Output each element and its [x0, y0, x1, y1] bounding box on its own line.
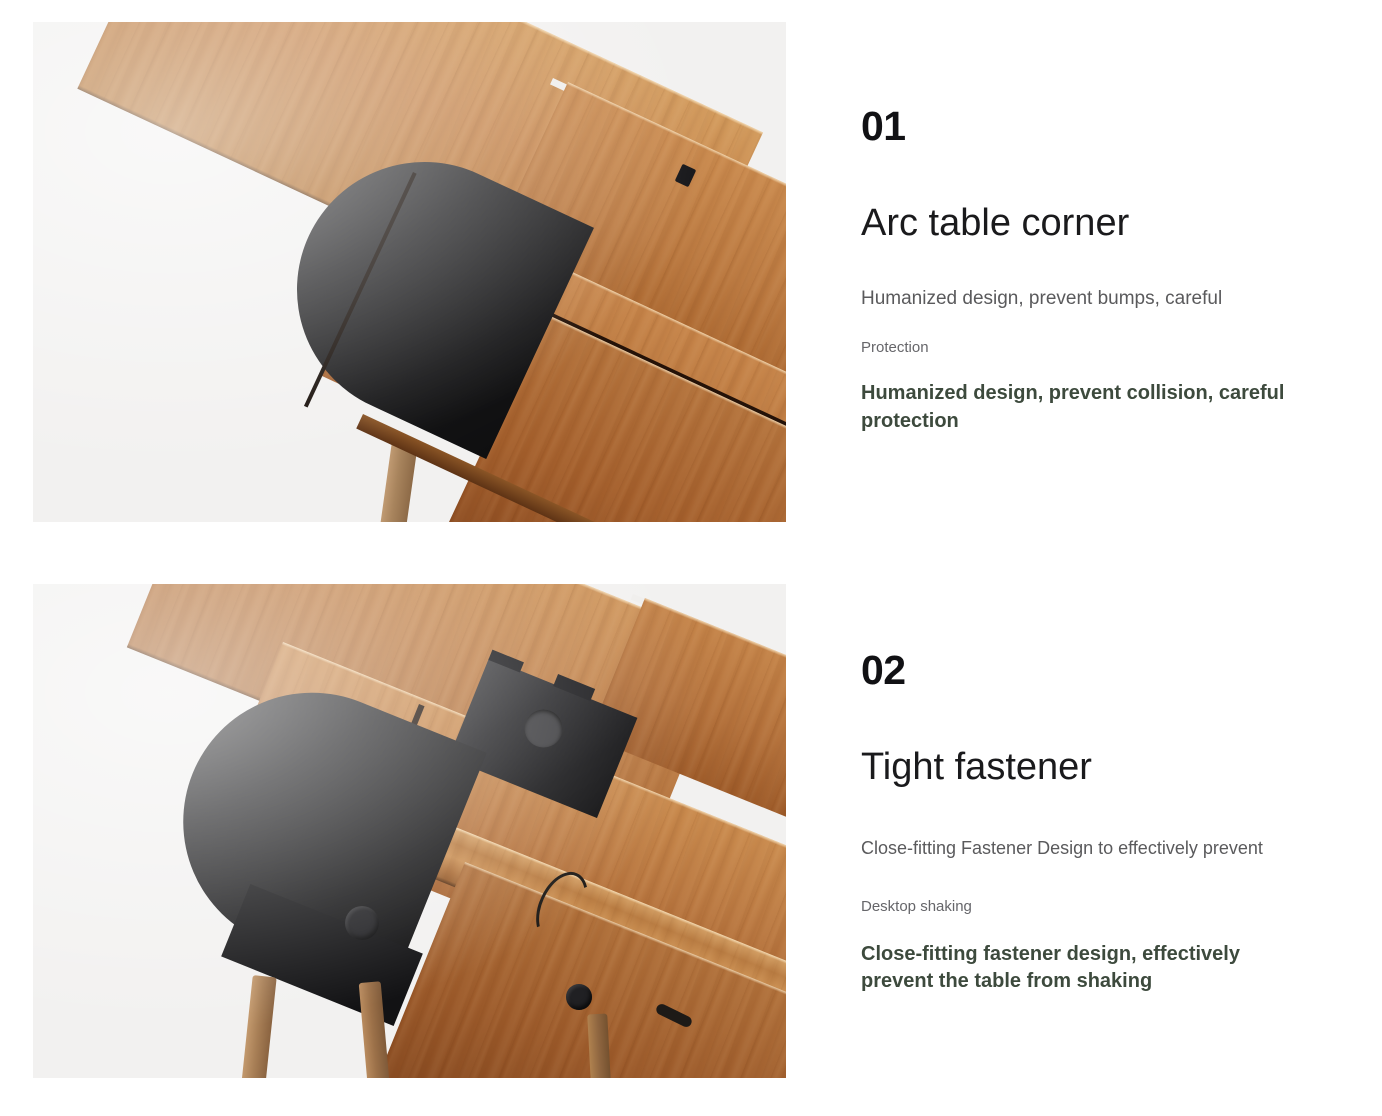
feature-copy-2: 02 Tight fastener Close-fitting Fastener… — [786, 584, 1353, 1078]
feature-number: 01 — [861, 106, 1289, 147]
fastener-table-leg-far — [587, 1014, 611, 1078]
product-feature-page: 01 Arc table corner Humanized design, pr… — [0, 0, 1382, 1116]
feature-description: Humanized design, prevent collision, car… — [861, 380, 1289, 435]
feature-description: Close-fitting fastener design, effective… — [861, 941, 1289, 996]
feature-subline: Close-fitting Fastener Design to effecti… — [861, 836, 1289, 860]
feature-subline: Humanized design, prevent bumps, careful — [861, 286, 1289, 312]
feature-headline: Arc table corner — [861, 203, 1289, 245]
fastener-table-leg-left — [241, 975, 276, 1078]
feature-minilabel: Protection — [861, 339, 923, 358]
feature-copy-1: 01 Arc table corner Humanized design, pr… — [786, 22, 1353, 522]
tight-fastener-photo — [33, 584, 786, 1078]
cord-anchor — [566, 984, 592, 1010]
feature-block-1: 01 Arc table corner Humanized design, pr… — [33, 22, 1353, 522]
arc-table-corner-photo — [33, 22, 786, 522]
feature-headline: Tight fastener — [861, 747, 1289, 789]
feature-number: 02 — [861, 650, 1289, 691]
fastener-knob — [345, 906, 379, 940]
feature-minilabel: Desktop shaking — [861, 898, 1289, 917]
feature-block-2: 02 Tight fastener Close-fitting Fastener… — [33, 584, 1353, 1078]
